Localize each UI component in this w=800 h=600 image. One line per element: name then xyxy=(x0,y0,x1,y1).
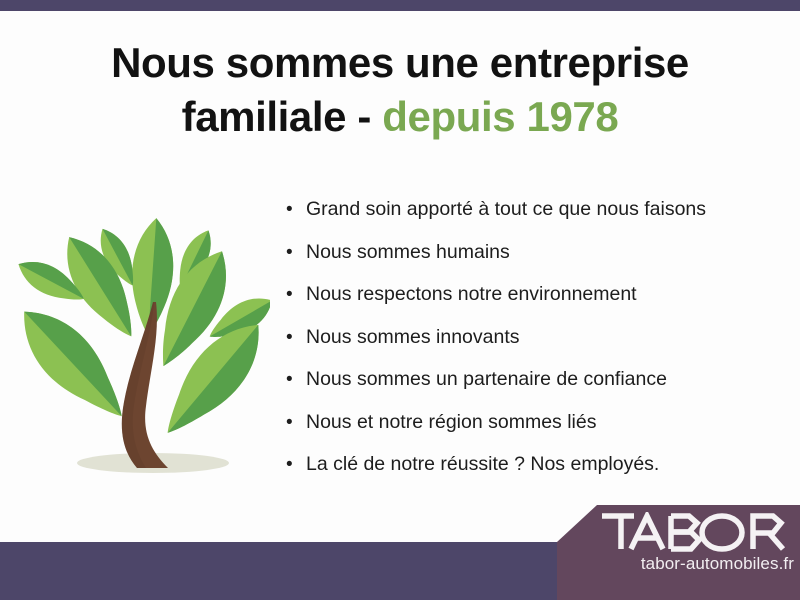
title-separator: - xyxy=(357,93,371,140)
list-item: • Nous sommes humains xyxy=(286,239,786,282)
brand-logo: tabor-automobiles.fr xyxy=(540,505,800,600)
list-item-label: Nous sommes humains xyxy=(306,239,510,265)
bullet-marker-icon: • xyxy=(286,240,306,266)
title-line-2-text: familiale xyxy=(182,93,346,140)
list-item: • Nous sommes un partenaire de confiance xyxy=(286,366,786,409)
title-accent-text: depuis 1978 xyxy=(382,93,618,140)
page-title: Nous sommes une entreprise familiale - d… xyxy=(0,36,800,144)
tree-icon xyxy=(14,202,270,487)
tree-illustration xyxy=(14,202,270,487)
bullet-list: • Grand soin apporté à tout ce que nous … xyxy=(286,196,786,494)
list-item: • Nous respectons notre environnement xyxy=(286,281,786,324)
list-item: • Nous et notre région sommes liés xyxy=(286,409,786,452)
list-item-label: Grand soin apporté à tout ce que nous fa… xyxy=(306,196,706,222)
title-line-1-text: Nous sommes une entreprise xyxy=(111,39,689,86)
list-item-label: Nous et notre région sommes liés xyxy=(306,409,596,435)
list-item: • Grand soin apporté à tout ce que nous … xyxy=(286,196,786,239)
title-line-1: Nous sommes une entreprise xyxy=(0,36,800,90)
bullet-marker-icon: • xyxy=(286,282,306,308)
bullet-marker-icon: • xyxy=(286,197,306,223)
logo-wordmark-icon xyxy=(601,512,791,552)
bullet-marker-icon: • xyxy=(286,367,306,393)
list-item-label: Nous sommes innovants xyxy=(306,324,520,350)
slide-canvas: Nous sommes une entreprise familiale - d… xyxy=(0,0,800,600)
logo-tagline: tabor-automobiles.fr xyxy=(540,554,794,574)
bullet-marker-icon: • xyxy=(286,410,306,436)
list-item: • La clé de notre réussite ? Nos employé… xyxy=(286,451,786,494)
list-item-label: Nous respectons notre environnement xyxy=(306,281,637,307)
bullet-marker-icon: • xyxy=(286,452,306,478)
list-item-label: La clé de notre réussite ? Nos employés. xyxy=(306,451,659,477)
bullet-marker-icon: • xyxy=(286,325,306,351)
top-accent-band xyxy=(0,0,800,11)
list-item: • Nous sommes innovants xyxy=(286,324,786,367)
list-item-label: Nous sommes un partenaire de confiance xyxy=(306,366,667,392)
title-line-2: familiale - depuis 1978 xyxy=(0,90,800,144)
